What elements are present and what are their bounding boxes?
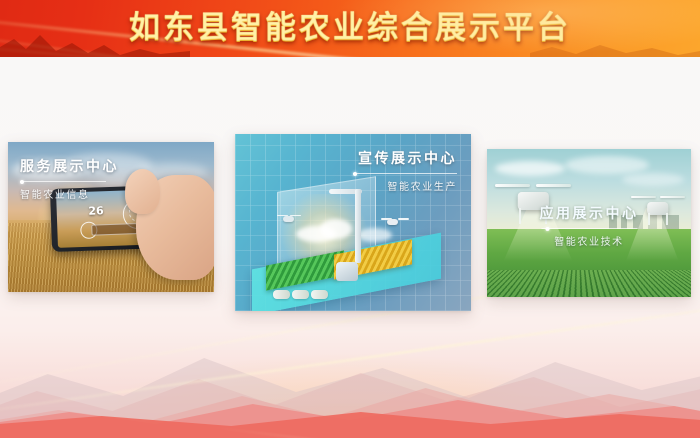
header-banner: 如东县智能农业综合展示平台 — [0, 0, 700, 57]
card-publicity-subtitle: 智能农业生产 — [353, 178, 457, 193]
card-service-title: 服务展示中心 — [20, 156, 119, 176]
page-title: 如东县智能农业综合展示平台 — [0, 7, 700, 50]
card-application-title: 应用展示中心 — [540, 203, 639, 223]
card-application-display-center[interactable]: 应用展示中心 智能农业技术 — [487, 149, 691, 297]
page-root: 如东县智能农业综合展示平台 26 — [0, 0, 700, 438]
divider-dot-icon — [353, 172, 357, 176]
water-tank-icon — [336, 262, 358, 281]
screen-temperature-value: 26 — [88, 204, 104, 218]
banner-streak-1 — [0, 10, 700, 57]
banner-skyline-left-icon — [0, 31, 190, 57]
banner-streak-3 — [0, 36, 700, 57]
card-service-image: 26 服务展示中心 智能农业信息 — [8, 142, 214, 292]
card-publicity-title: 宣传展示中心 — [353, 148, 457, 168]
irrigation-pole — [355, 189, 361, 263]
drone-icon-left — [277, 212, 301, 224]
thumb-illustration — [125, 169, 160, 214]
card-publicity-divider — [353, 173, 457, 174]
card-service-divider — [20, 181, 106, 182]
card-publicity-image: 宣传展示中心 智能农业生产 — [235, 134, 471, 311]
card-application-text-block: 应用展示中心 智能农业技术 — [540, 203, 639, 248]
card-service-display-center[interactable]: 26 服务展示中心 智能农业信息 — [8, 142, 214, 292]
divider-dot-icon — [20, 180, 24, 184]
card-service-subtitle: 智能农业信息 — [20, 186, 119, 201]
drone-icon-right — [381, 215, 409, 229]
banner-streak-2 — [0, 22, 700, 57]
card-publicity-text-block: 宣传展示中心 智能农业生产 — [353, 148, 457, 193]
card-publicity-display-center[interactable]: 宣传展示中心 智能农业生产 — [235, 134, 471, 311]
card-service-text-block: 服务展示中心 智能农业信息 — [20, 156, 119, 201]
card-application-subtitle: 智能农业技术 — [540, 233, 639, 248]
card-application-image: 应用展示中心 智能农业技术 — [487, 149, 691, 297]
divider-dot-icon — [545, 227, 549, 231]
card-application-divider — [541, 228, 637, 229]
drone-icon-small — [631, 187, 685, 225]
banner-skyline-right-icon — [530, 37, 700, 57]
